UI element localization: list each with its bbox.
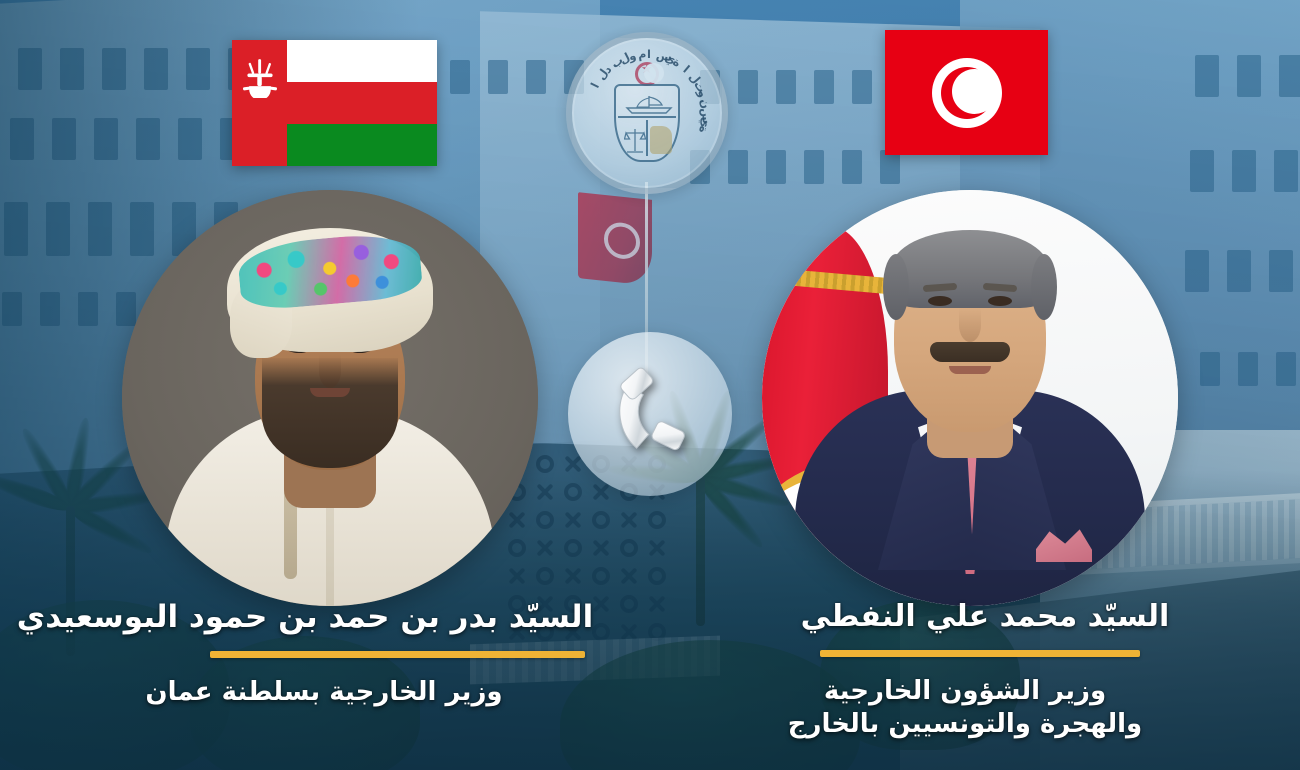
portrait-right-eye bbox=[928, 296, 952, 306]
tunisia-flag: ★ bbox=[885, 30, 1048, 155]
khanjar-icon bbox=[242, 58, 278, 98]
background-tunisia-flag bbox=[578, 192, 652, 286]
scales-icon bbox=[624, 126, 646, 154]
portrait-oman-minister bbox=[122, 190, 538, 606]
tunisia-minister-title-line1: وزير الشؤون الخارجية bbox=[740, 675, 1190, 708]
tunisia-minister-name: السيّد محمد علي النفطي bbox=[680, 600, 1290, 635]
announcement-graphic: ★ ا ل د ب ل و م ا س ي ة ا ل ت و ن س ي ة … bbox=[0, 0, 1300, 770]
oman-minister-name: السيّد بدر بن حمد بن حمود البوسعيدي bbox=[0, 600, 610, 636]
caption-tunisia-minister: السيّد محمد علي النفطي وزير الشؤون الخار… bbox=[680, 600, 1290, 741]
tunisia-minister-title: وزير الشؤون الخارجية والهجرة والتونسيين … bbox=[680, 675, 1290, 742]
tunisia-flag-star: ★ bbox=[953, 76, 983, 110]
oman-flag-red-stripe bbox=[287, 82, 437, 124]
phone-call-badge bbox=[568, 332, 732, 496]
portrait-right-mouth bbox=[949, 366, 991, 374]
tunisian-diplomacy-emblem: ا ل د ب ل و م ا س ي ة ا ل ت و ن س ي ة ★ bbox=[566, 32, 728, 194]
tunisia-minister-title-line2: والهجرة والتونسيين بالخارج bbox=[740, 708, 1190, 741]
portrait-right-nose bbox=[959, 308, 981, 342]
oman-flag bbox=[232, 40, 437, 166]
portrait-left-nose bbox=[319, 354, 341, 388]
portrait-right-eye bbox=[988, 296, 1012, 306]
crescent-star-icon: ★ bbox=[941, 67, 993, 119]
caption-oman-minister: السيّد بدر بن حمد بن حمود البوسعيدي وزير… bbox=[0, 600, 610, 709]
emblem-shield bbox=[614, 84, 680, 162]
lion-icon bbox=[650, 126, 672, 154]
gold-rule bbox=[820, 650, 1140, 657]
portrait-right-hair bbox=[891, 230, 1049, 308]
portrait-right-mustache bbox=[930, 342, 1010, 362]
phone-call-icon bbox=[602, 366, 698, 462]
ship-icon bbox=[624, 94, 674, 114]
tunisia-flag-white-disc: ★ bbox=[932, 58, 1002, 128]
oman-minister-title: وزير الخارجية بسلطنة عمان bbox=[0, 676, 610, 709]
gold-rule bbox=[210, 651, 585, 658]
portrait-left-mouth bbox=[310, 388, 350, 397]
portrait-tunisia-minister bbox=[762, 190, 1178, 606]
oman-flag-white-stripe bbox=[287, 40, 437, 82]
crescent-star-icon: ★ bbox=[635, 62, 659, 86]
oman-flag-green-stripe bbox=[287, 124, 437, 166]
